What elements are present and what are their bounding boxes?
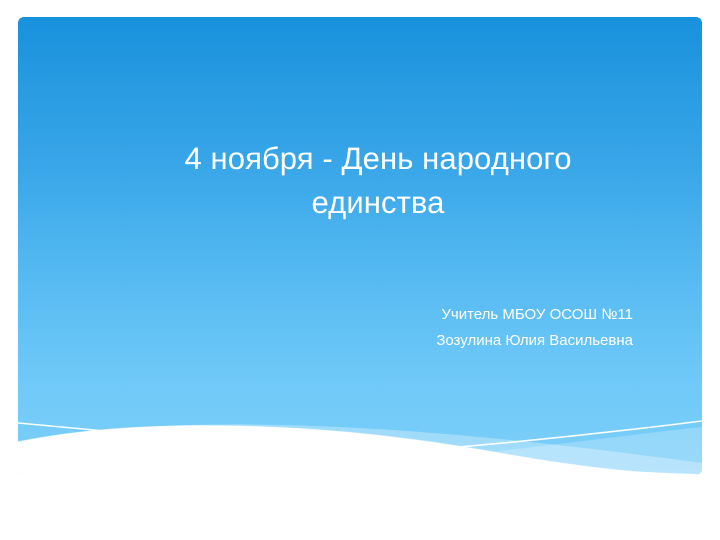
slide-title: 4 ноября - День народного единства <box>78 137 678 225</box>
decorative-wave-artwork <box>18 17 702 475</box>
slide-root: 4 ноября - День народного единства Учите… <box>0 0 720 540</box>
slide-title-line-1: 4 ноября - День народного <box>78 137 678 181</box>
slide-subtitle: Учитель МБОУ ОСОШ №11 Зозулина Юлия Васи… <box>198 302 633 354</box>
slide-subtitle-line-2: Зозулина Юлия Васильевна <box>198 328 633 354</box>
slide-subtitle-line-1: Учитель МБОУ ОСОШ №11 <box>198 302 633 328</box>
slide-background: 4 ноября - День народного единства Учите… <box>18 17 702 475</box>
slide-title-line-2: единства <box>78 181 678 225</box>
